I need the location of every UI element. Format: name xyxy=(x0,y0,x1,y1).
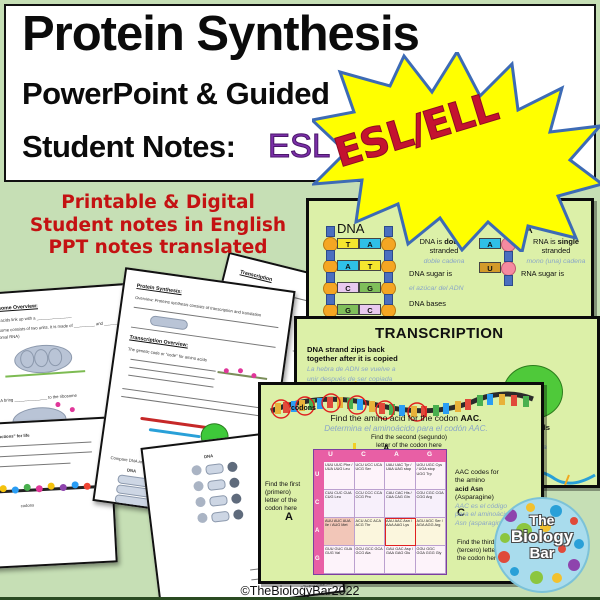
base-box xyxy=(207,479,226,491)
base-pair-left: C xyxy=(337,282,359,293)
transcription-title: TRANSCRIPTION xyxy=(375,325,504,342)
col-header-g: G xyxy=(413,451,446,458)
note-en1: DNA strand zips back xyxy=(307,345,385,354)
promo-text: Printable & Digital Student notes in Eng… xyxy=(8,192,308,260)
phosphate-square xyxy=(504,251,513,262)
base-pair-right: T xyxy=(359,260,381,271)
base-pair-left: G xyxy=(337,304,359,315)
subtitle-line-2: Student Notes: xyxy=(22,131,235,162)
worksheet-line: tRNA bring ______________ to the ribosom… xyxy=(0,393,77,404)
phosphate-square xyxy=(384,294,393,305)
table-cell: GAU GAC Asp / GAA GAG Glu xyxy=(385,546,416,573)
dna-double-es: doble cadena xyxy=(424,258,465,265)
base-box xyxy=(211,511,230,523)
codon-question-codon: AAC. xyxy=(460,413,481,423)
worksheet-heading: Protein Synthesis: xyxy=(136,283,182,295)
promo-line-3: PPT notes translated xyxy=(8,237,308,260)
table-cell: ACU ACC ACA ACG Thr xyxy=(355,518,386,545)
rna-sugar-text: RNA sugar is xyxy=(521,269,564,278)
highlight-box-aac xyxy=(385,518,416,546)
table-cell: GCU GCC GCA GCG Ala xyxy=(355,546,386,573)
nucleotide-dot xyxy=(233,509,244,520)
dna-squiggle xyxy=(149,315,188,330)
first-letter-en3: letter of the xyxy=(265,497,297,504)
amino-acid-dot xyxy=(70,407,75,412)
first-letter-en2: (primero) xyxy=(265,489,291,496)
logo-dot xyxy=(552,573,562,583)
promo-line-1: Printable & Digital xyxy=(8,192,308,215)
worksheet-line: The "instructions" for life xyxy=(0,433,30,441)
worksheet-rule xyxy=(0,441,91,448)
rna-single-es: mono (una) cadena xyxy=(527,258,586,265)
table-cell: UAU UAC Tyr / UAA UAG stop xyxy=(385,462,416,489)
protein-chain-diagram xyxy=(0,477,96,501)
worksheet-label: DNA xyxy=(204,453,214,459)
aa-bead xyxy=(238,368,244,374)
dna-sugar-es: el azúcar del ADN xyxy=(409,285,464,293)
nucleotide-dot xyxy=(231,493,242,504)
phosphate-square xyxy=(384,272,393,283)
base-box xyxy=(205,463,224,475)
table-cell: CCU CCC CCA CCG Pro xyxy=(355,490,386,517)
table-cell: CUU CUC CUA CUG Leu xyxy=(324,490,355,517)
subtitle-line-1: PowerPoint & Guided xyxy=(22,78,329,109)
logo-dot xyxy=(510,567,519,576)
aa-bead xyxy=(36,485,43,492)
nucleotide-dot xyxy=(227,461,238,472)
worksheet-line: Overview: Proteins synthesis consists of… xyxy=(135,295,262,318)
col-header-c: C xyxy=(347,451,380,458)
first-letter-instruction: Find the first (primero) letter of the c… xyxy=(265,481,319,513)
aac-en2: the amino xyxy=(455,477,485,484)
worksheet-heading: Ribosome Overview: xyxy=(0,303,38,313)
table-cell: CAU CAC His / CAA CAG Gln xyxy=(385,490,416,517)
logo-line-2: Biology xyxy=(496,528,588,546)
base-pair-right: G xyxy=(359,282,381,293)
table-cell: CGU CGC CGA CGG Arg xyxy=(416,490,447,517)
dna-sugar-text: DNA sugar is xyxy=(409,269,452,278)
phosphate-square xyxy=(504,275,513,286)
table-cell: AGU AGC Ser / AGA AGG Arg xyxy=(416,518,447,545)
codon-table: U C A G U C A G UUU UUC Phe / UUA UUG Le… xyxy=(313,449,447,575)
worksheet-heading: Transcription Overview: xyxy=(129,334,188,348)
row-header-a: A xyxy=(315,528,319,534)
worksheet-label: DNA xyxy=(127,467,137,473)
worksheet-line: (ribosomal RNA) xyxy=(0,334,20,341)
second-letter-instruction: Find the second (segundo) letter of the … xyxy=(349,434,469,449)
logo-line-3: Bar xyxy=(496,546,588,562)
nucleotide-dot xyxy=(191,465,202,476)
third-letter-en3: the codon here xyxy=(457,555,500,562)
nucleotide-dot xyxy=(195,496,206,507)
dna-bases-text: DNA bases xyxy=(409,299,446,308)
table-cell: UUU UUC Phe / UUA UUG Leu xyxy=(324,462,355,489)
codon-question-en: Find the amino acid for the codon AAC. xyxy=(275,413,537,423)
base-pair-right: C xyxy=(359,304,381,315)
aa-bead xyxy=(60,484,67,491)
third-letter-en1: Find the third xyxy=(457,539,494,546)
col-header-a: A xyxy=(380,451,413,458)
table-row: CUU CUC CUA CUG Leu CCU CCC CCA CCG Pro … xyxy=(324,490,446,518)
aa-bead xyxy=(12,486,19,493)
row-header-c: C xyxy=(315,500,319,506)
footer-copyright: ©TheBiologyBar2022 xyxy=(0,584,600,598)
row-header-u: U xyxy=(315,472,319,478)
worksheet-line: Amino acids link up with a _____________… xyxy=(0,313,72,324)
marker-a-left: A xyxy=(285,511,293,523)
base-box xyxy=(209,495,228,507)
aac-en3: acid Asn xyxy=(455,486,483,493)
base-pair-left: A xyxy=(337,260,359,271)
codon-question-text: Find the amino acid for the codon xyxy=(331,413,461,423)
aac-es1: AAC es el código xyxy=(455,503,507,510)
aa-bead xyxy=(84,483,91,490)
logo-line-1: The xyxy=(496,513,588,528)
nucleotide-dot xyxy=(193,481,204,492)
nucleotide-dot xyxy=(229,477,240,488)
table-cell: AUU AUC AUA Ile / AUG Met xyxy=(324,518,355,545)
nucleotide-dot xyxy=(197,512,208,523)
phosphate-square xyxy=(326,272,335,283)
table-cell: UCU UCC UCA UCG Ser xyxy=(355,462,386,489)
note-es1: La hebra de ADN se vuelve a xyxy=(307,366,396,373)
worksheet-heading: Transcription xyxy=(239,269,272,283)
aac-en1: AAC codes for xyxy=(455,469,499,476)
table-cell: UGU UGC Cys / UGA stop UGG Trp xyxy=(416,462,447,489)
col-header-u: U xyxy=(314,451,347,458)
logo-dot xyxy=(526,503,535,512)
note-en2: together after it is copied xyxy=(307,354,398,363)
logo-dot xyxy=(530,571,543,584)
codon-table-grid: UUU UUC Phe / UUA UUG Leu UCU UCC UCA UC… xyxy=(324,462,446,574)
aac-en4: (Asparagine) xyxy=(455,494,494,501)
table-cell: GGU GGC GGA GGG Gly xyxy=(416,546,447,573)
codon-question-es: Determina el aminoácido para el codón AA… xyxy=(275,424,537,433)
phosphate-square xyxy=(326,294,335,305)
product-cover: Ribosome Overview: Amino acids link up w… xyxy=(0,0,600,600)
first-letter-en1: Find the first xyxy=(265,481,300,488)
logo-text: The Biology Bar xyxy=(496,513,588,561)
worksheet-caption: codons xyxy=(21,503,35,509)
table-row: GUU GUC GUA GUG Val GCU GCC GCA GCG Ala … xyxy=(324,546,446,574)
worksheet-rule xyxy=(0,451,92,458)
rna-sugar-circle xyxy=(501,261,516,276)
promo-line-2: Student notes in English xyxy=(8,215,308,238)
second-letter-en: Find the second (segundo) xyxy=(371,434,447,441)
table-cell: GUU GUC GUA GUG Val xyxy=(324,546,355,573)
logo-biology-bar: The Biology Bar xyxy=(494,497,590,593)
codons-label: codons xyxy=(291,405,316,412)
amino-acid-dot xyxy=(55,402,60,407)
row-header-g: G xyxy=(315,556,320,562)
worksheet-rule xyxy=(0,463,70,469)
rna-base: U xyxy=(479,262,501,273)
table-row: UUU UUC Phe / UUA UUG Leu UCU UCC UCA UC… xyxy=(324,462,446,490)
